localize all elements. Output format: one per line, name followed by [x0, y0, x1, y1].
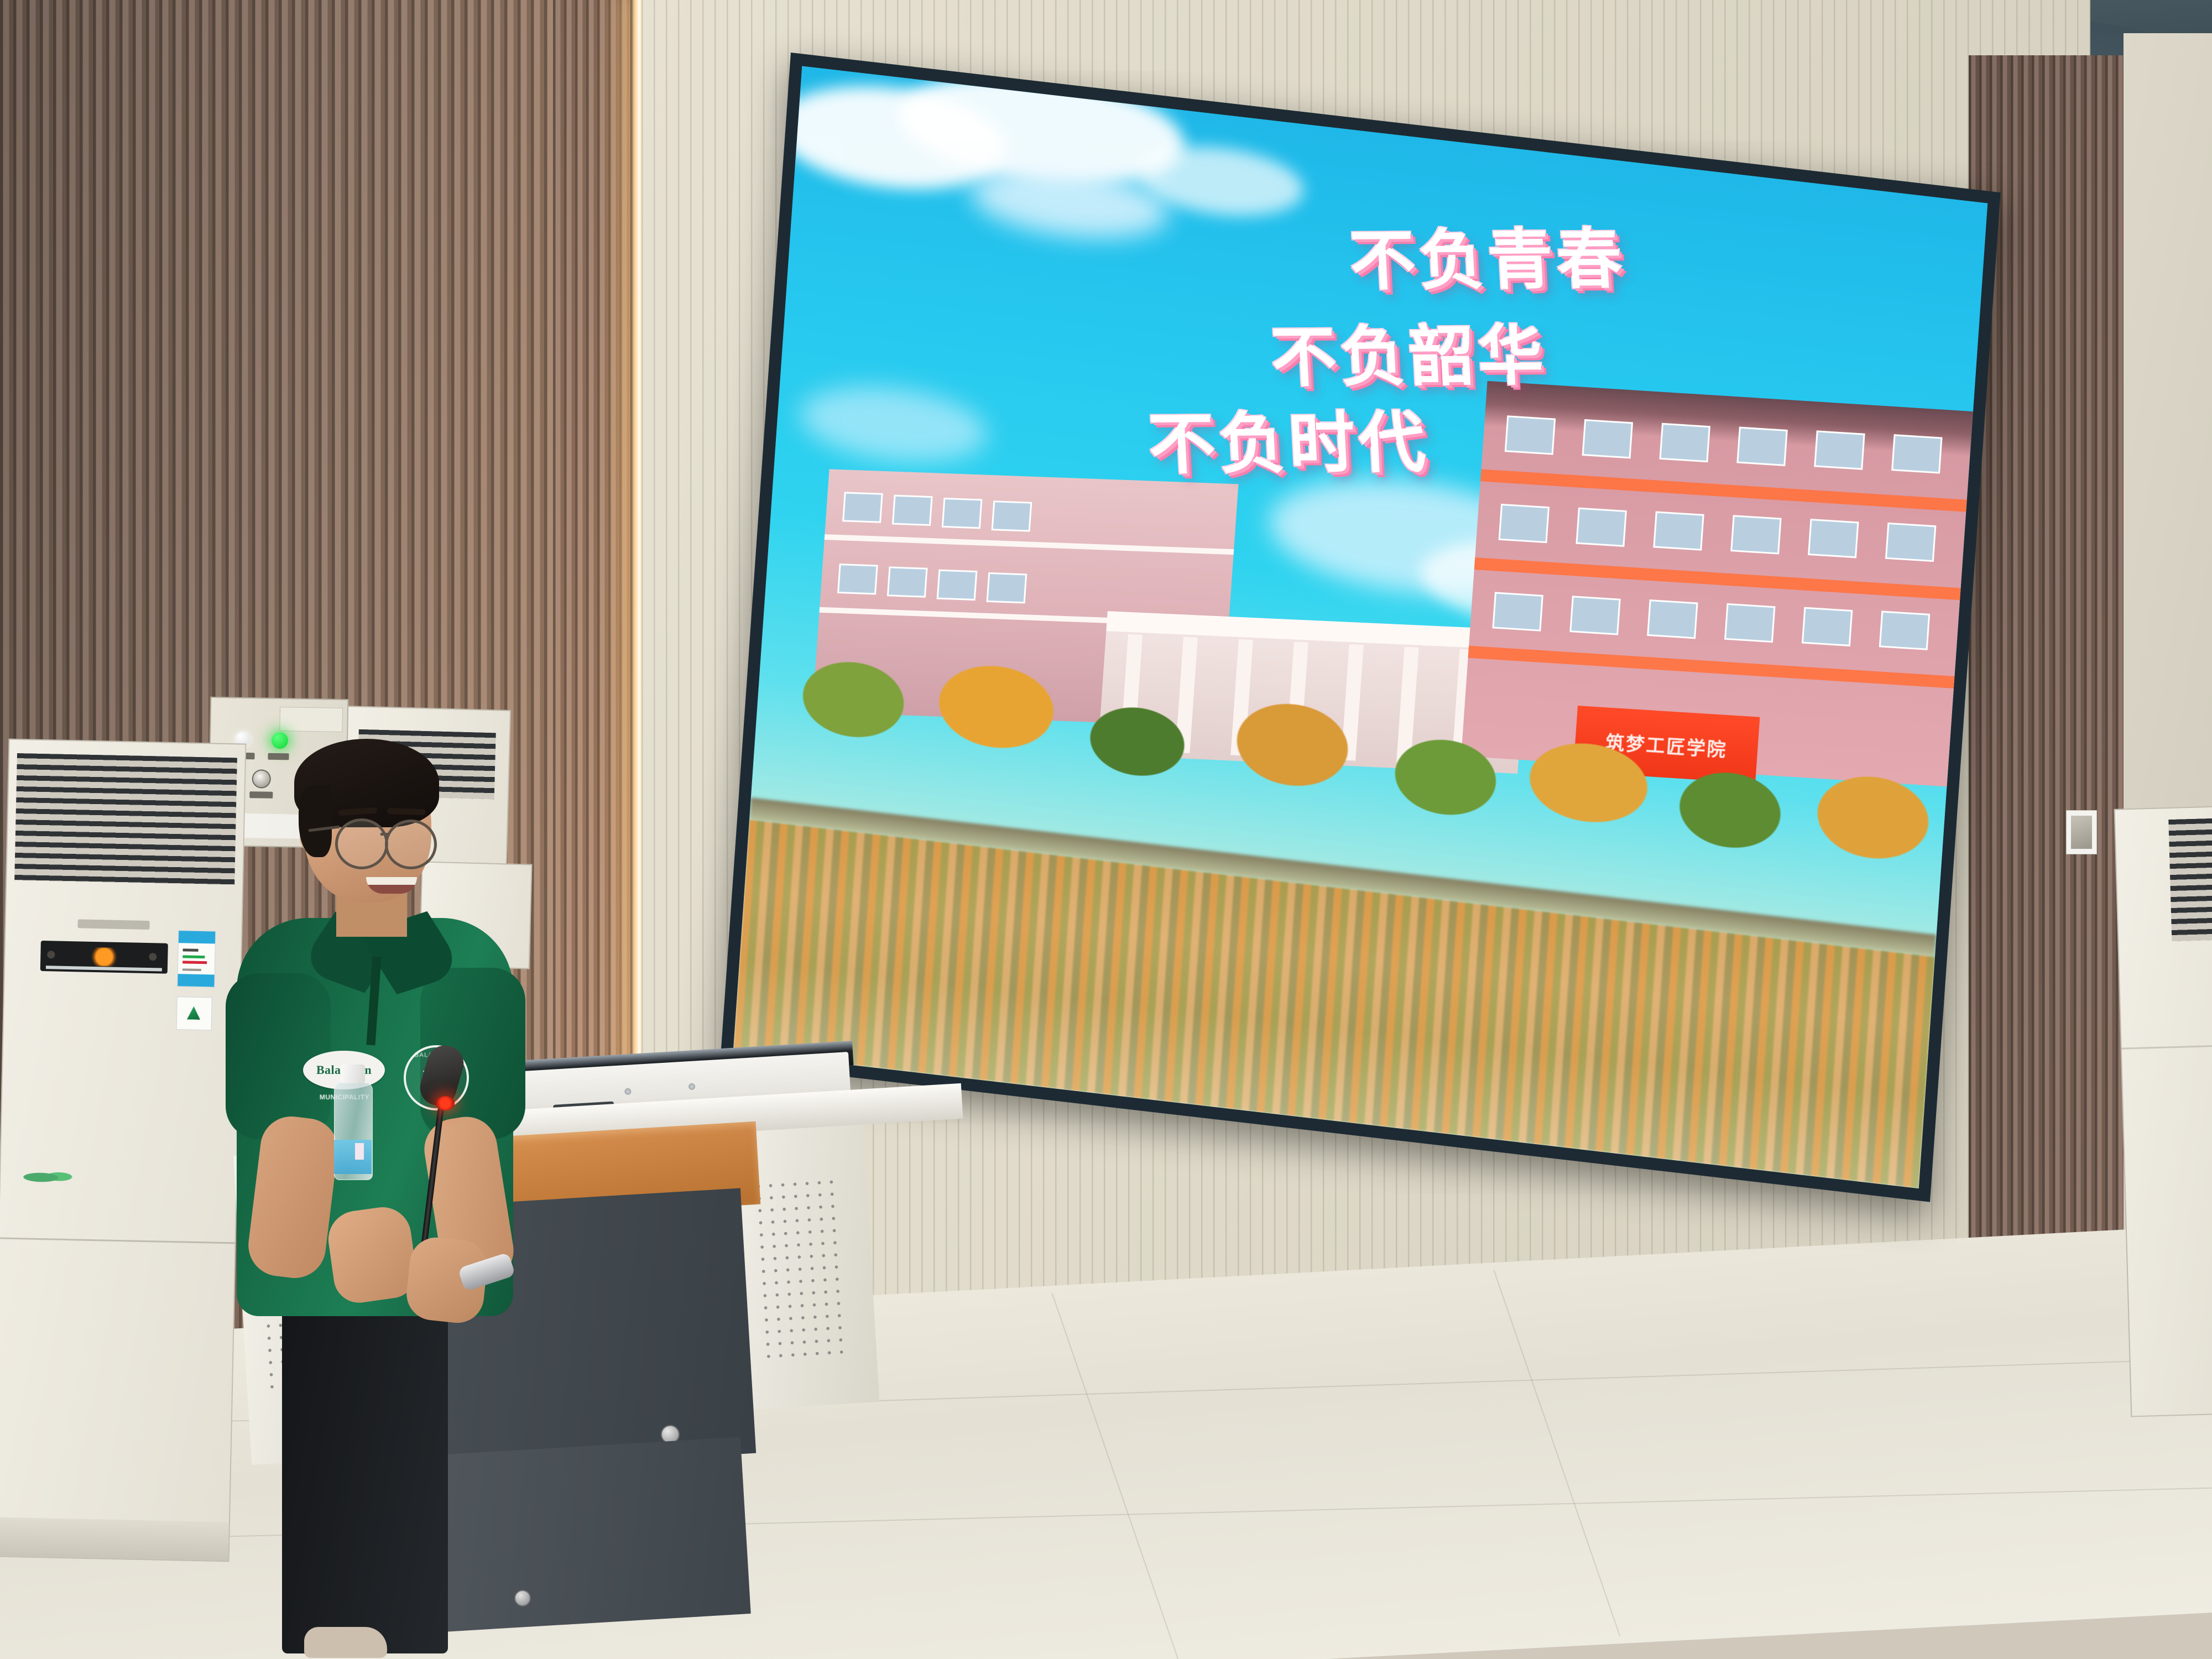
bottle-label-tag — [355, 1143, 364, 1160]
eyeglasses-lens-left — [335, 818, 388, 869]
slogan-line-3: 不负时代 — [1146, 388, 1431, 487]
microphone-status-led — [436, 1096, 455, 1110]
ac-louver — [2168, 818, 2212, 941]
floor-standing-ac-right[interactable] — [2114, 806, 2212, 1417]
presenter: Balamban MUNICIPALITY BB BALAMBAN — [221, 735, 531, 1659]
presenter-hand-left — [325, 1203, 420, 1306]
ac-base — [0, 1517, 229, 1561]
bottle-label — [334, 1140, 372, 1174]
ac-display[interactable] — [40, 941, 168, 974]
floor-tile-seam — [1493, 1270, 1620, 1636]
eyeglasses-bridge — [380, 833, 389, 836]
certification-sticker — [176, 997, 212, 1030]
monitor-screw — [624, 1088, 632, 1095]
water-bottle[interactable] — [332, 1065, 374, 1178]
led-screen-content: 筑梦工匠学院 不负青春 不负韶华 不负时代 — [733, 66, 1988, 1188]
ac-right-seam — [2122, 1045, 2212, 1049]
eyeglasses-lens-right — [385, 820, 437, 869]
floor-tile-seam — [1052, 1293, 1179, 1659]
presenter-legs — [282, 1300, 448, 1653]
wall-switch-plate[interactable] — [2066, 810, 2097, 854]
presenter-hair-side — [299, 785, 332, 857]
ac-louver — [14, 753, 237, 885]
slogan-line-2: 不负韶华 — [1269, 302, 1549, 399]
monitor-screw — [688, 1083, 696, 1091]
slogan-line-1: 不负青春 — [1347, 206, 1627, 302]
ac-lower-seam — [0, 1238, 235, 1244]
presenter-shoe — [304, 1627, 387, 1658]
bottle-cap[interactable] — [341, 1065, 365, 1083]
energy-efficiency-label — [177, 930, 216, 987]
panel-spec-label — [279, 707, 343, 732]
led-video-wall[interactable]: 筑梦工匠学院 不负青春 不负韶华 不负时代 — [720, 53, 2000, 1202]
floor-standing-ac-left[interactable] — [0, 739, 246, 1562]
ac-brand-text — [77, 919, 149, 930]
presenter-mouth — [366, 877, 417, 894]
auditorium-scene: 筑梦工匠学院 不负青春 不负韶华 不负时代 — [0, 0, 2212, 1659]
ac-display-digits — [88, 947, 119, 967]
ac-logo-graphic — [23, 1166, 84, 1189]
lectern-speaker-grille-right — [752, 1176, 851, 1363]
